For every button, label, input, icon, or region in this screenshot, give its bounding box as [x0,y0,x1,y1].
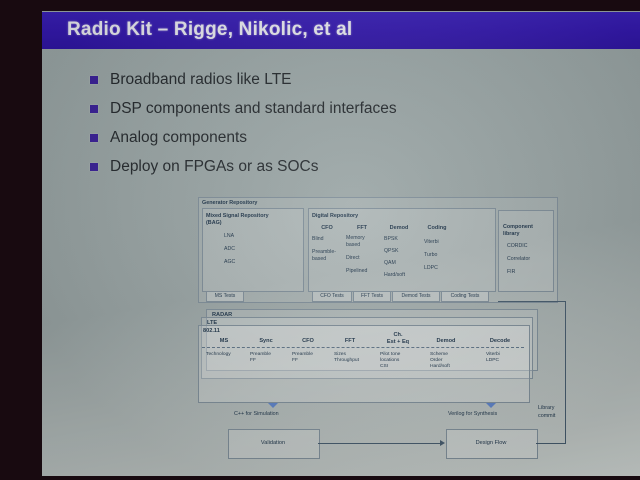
mixed-signal-title-line2: (BAG) [206,220,222,226]
layer-col-header-sync: Sync [248,338,284,344]
digital-col-header-fft: FFT [346,225,378,231]
component-library-title-line2: library [503,231,519,237]
connector-line [318,443,440,444]
bullet-marker-icon [90,163,98,171]
digital-col-item: QAM [384,260,396,266]
feedback-line [498,301,566,302]
list-item: Broadband radios like LTE [90,67,540,92]
verilog-flow-arrow-icon [486,403,496,408]
digital-col-item: LDPC [424,265,438,271]
verilog-synthesis-label: Verilog for Synthesis [448,411,497,417]
digital-col-item: BPSK [384,236,398,242]
bullet-list: Broadband radios like LTE DSP components… [90,67,540,183]
bullet-text: Deploy on FPGAs or as SOCs [110,158,318,176]
mixed-signal-title-line1: Mixed Signal Repository [206,213,269,219]
fft-tests-button[interactable]: FFT Tests [353,291,391,302]
component-library-box [498,210,554,292]
validation-label: Validation [228,440,318,446]
digital-col-item: Turbo [424,252,437,258]
digital-col-item: based [346,242,360,248]
feedback-line [565,301,566,444]
connector-arrow-icon [440,440,445,446]
digital-col-header-cfo: CFO [312,225,342,231]
slide-title-bar: Radio Kit – Rigge, Nikolic, et al [42,12,640,49]
component-library-item: CORDIC [507,243,527,249]
bullet-marker-icon [90,76,98,84]
digital-col-item: Preamble- [312,249,336,255]
library-commit-label-line1: Library [538,405,554,411]
ms-tests-button[interactable]: MS Tests [206,291,244,302]
component-library-item: Correlator [507,256,530,262]
architecture-diagram: Generator Repository Mixed Signal Reposi… [198,197,598,467]
mixed-signal-item: AGC [224,259,235,265]
coding-tests-button[interactable]: Coding Tests [441,291,489,302]
bullet-text: DSP components and standard interfaces [110,100,397,118]
dot11-layer-label: 802.11 [203,328,220,334]
bullet-marker-icon [90,105,98,113]
layer-col-item: CSI [380,364,388,370]
cpp-simulation-label: C++ for Simulation [234,411,279,417]
library-commit-label-line2: commit [538,413,555,419]
bullet-text: Broadband radios like LTE [110,71,292,89]
layer-col-item: Throughput [334,358,359,364]
layer-col-header-cfo: CFO [290,338,326,344]
list-item: DSP components and standard interfaces [90,96,540,121]
layer-col-header-decode: Decode [480,338,520,344]
dot11-layer-box [198,325,530,403]
page-title: Radio Kit – Rigge, Nikolic, et al [67,19,352,41]
layer-col-header-demod: Demod [426,338,466,344]
digital-col-header-coding: Coding [420,225,454,231]
presentation-slide: Radio Kit – Rigge, Nikolic, et al Broadb… [42,11,640,476]
generator-repository-label: Generator Repository [202,200,257,206]
layer-col-item: FF [250,358,256,364]
layer-col-item: LDPC [486,358,499,364]
bullet-text: Analog components [110,129,247,147]
layer-col-item: Hard/soft [430,364,450,370]
mixed-signal-item: ADC [224,246,235,252]
cpp-flow-arrow-icon [268,403,278,408]
digital-col-item: Blind [312,236,324,242]
layer-col-header-ch-line2: Est + Eq [378,339,418,345]
component-library-title-line1: Component [503,224,533,230]
list-item: Deploy on FPGAs or as SOCs [90,154,540,179]
digital-col-item: based [312,256,326,262]
digital-repository-label: Digital Repository [312,213,358,219]
table-divider [202,347,524,348]
list-item: Analog components [90,125,540,150]
layer-col-item: Technology [206,352,231,358]
layer-col-header-ch-line1: Ch. [378,332,418,338]
layer-col-header-ms: MS [206,338,242,344]
mixed-signal-item: LNA [224,233,234,239]
digital-col-item: Pipelined [346,268,367,274]
layer-col-header-fft: FFT [332,338,368,344]
digital-repository-box [308,208,496,292]
digital-col-item: QPSK [384,248,398,254]
cfo-tests-button[interactable]: CFO Tests [312,291,352,302]
digital-col-item: Viterbi [424,239,439,245]
demod-tests-button[interactable]: Demod Tests [392,291,440,302]
bullet-marker-icon [90,134,98,142]
slide-photo: Radio Kit – Rigge, Nikolic, et al Broadb… [0,0,640,480]
layer-col-item: FF [292,358,298,364]
digital-col-header-demod: Demod [382,225,416,231]
feedback-line [536,443,566,444]
digital-col-item: Memory [346,235,365,241]
digital-col-item: Direct [346,255,360,261]
digital-col-item: Hard/soft [384,272,405,278]
design-flow-label: Design Flow [446,440,536,446]
component-library-item: FIR [507,269,515,275]
